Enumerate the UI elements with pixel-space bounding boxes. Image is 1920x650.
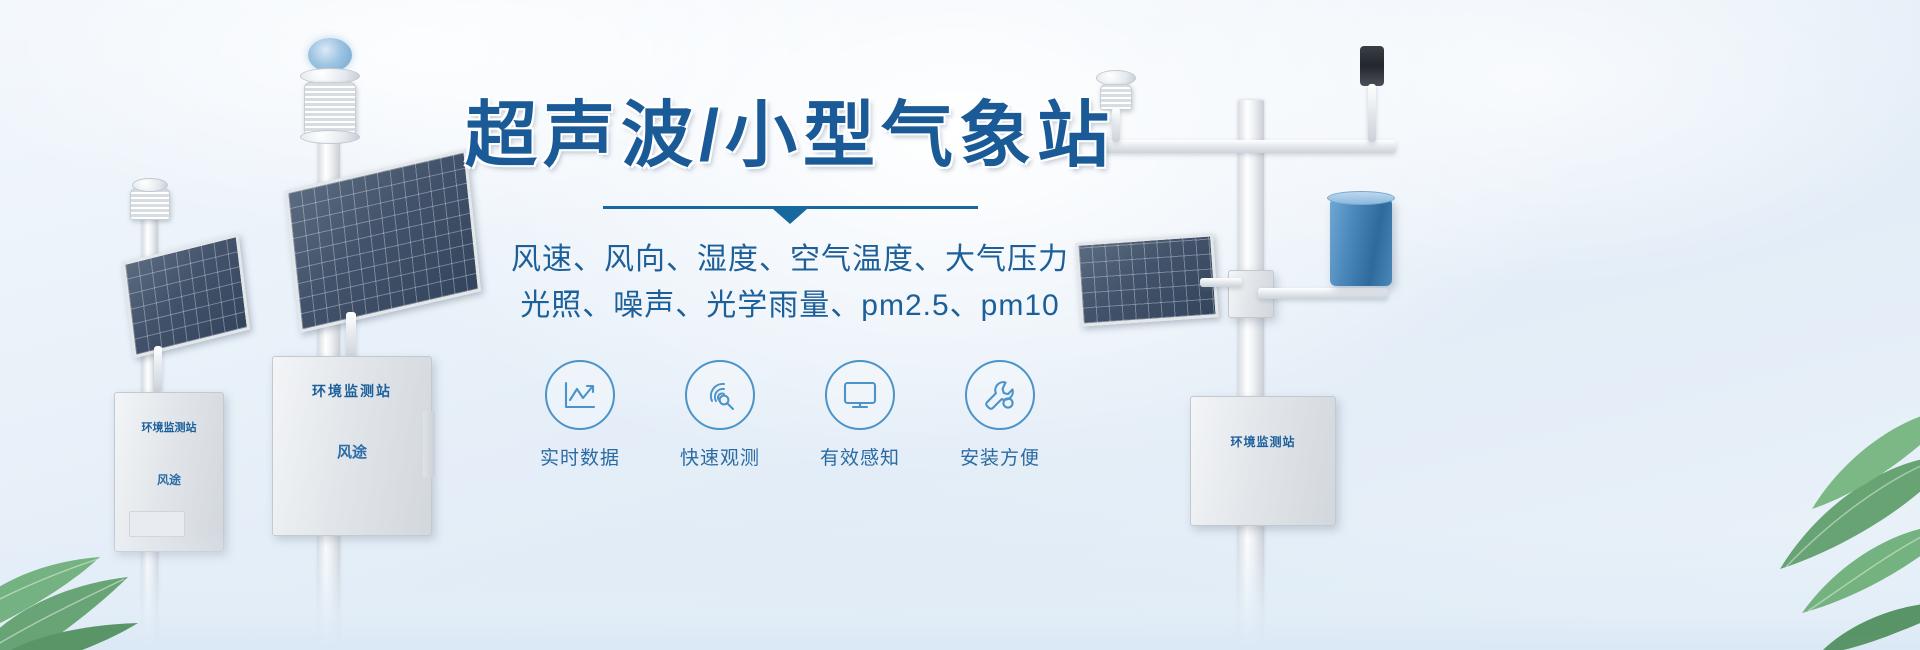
subtitle-line-2: 光照、噪声、光学雨量、pm2.5、pm10 bbox=[520, 283, 1059, 330]
feature-item-realtime-data[interactable]: 实时数据 bbox=[526, 360, 634, 470]
enclosure-label: 环境监测站 bbox=[115, 419, 223, 435]
feature-item-fast-observation[interactable]: 快速观测 bbox=[666, 360, 774, 470]
feature-label: 安装方便 bbox=[960, 443, 1040, 470]
rain-gauge-funnel bbox=[1327, 191, 1395, 205]
optical-rain-sensor bbox=[1360, 46, 1384, 86]
rain-gauge bbox=[1330, 198, 1392, 286]
feature-item-easy-installation[interactable]: 安装方便 bbox=[946, 360, 1054, 470]
radar-signal-icon bbox=[685, 360, 755, 430]
tropical-leaf-right bbox=[1640, 405, 1920, 650]
enclosure-hinge bbox=[423, 411, 435, 477]
panel-mount-arm bbox=[1200, 278, 1242, 287]
rain-sensor-stem bbox=[1368, 84, 1376, 142]
feature-list: 实时数据 快速观测 bbox=[526, 360, 1054, 470]
feature-label: 快速观测 bbox=[680, 443, 760, 470]
panel-mount-arm bbox=[346, 312, 356, 360]
page-title: 超声波/小型气象站 bbox=[465, 96, 1115, 177]
enclosure-label: 环境监测站 bbox=[1191, 433, 1335, 450]
panel-mount-arm bbox=[154, 346, 162, 392]
tropical-leaf-left bbox=[0, 465, 190, 650]
feature-label: 实时数据 bbox=[540, 443, 620, 470]
sensor-cap bbox=[132, 178, 168, 192]
mast-pole bbox=[1238, 100, 1264, 650]
temperature-shield-sensor bbox=[130, 188, 170, 220]
cross-arm bbox=[1096, 140, 1396, 153]
chevron-down-icon bbox=[773, 209, 807, 224]
subtitle-line-1: 风速、风向、湿度、空气温度、大气压力 bbox=[511, 237, 1069, 284]
product-banner: 环境监测站 风途 环境监测站 风途 bbox=[0, 0, 1920, 650]
banner-text-block: 超声波/小型气象站 风速、风向、湿度、空气温度、大气压力 光照、噪声、光学雨量、… bbox=[440, 96, 1140, 470]
feature-item-effective-sensing[interactable]: 有效感知 bbox=[806, 360, 914, 470]
enclosure-box-center: 环境监测站 风途 bbox=[272, 356, 432, 536]
shield-base-disc bbox=[300, 130, 360, 144]
line-chart-icon bbox=[545, 360, 615, 430]
title-divider bbox=[603, 203, 978, 219]
enclosure-brand: 风途 bbox=[273, 441, 431, 462]
enclosure-label: 环境监测站 bbox=[273, 381, 431, 401]
radiation-shield-sensor bbox=[304, 82, 356, 134]
monitor-screen-icon bbox=[825, 360, 895, 430]
ultrasonic-sensor-dome bbox=[308, 38, 352, 72]
wrench-tool-icon bbox=[965, 360, 1035, 430]
enclosure-box-right: 环境监测站 bbox=[1190, 396, 1336, 526]
feature-label: 有效感知 bbox=[820, 443, 900, 470]
lower-cross-arm bbox=[1258, 288, 1388, 299]
